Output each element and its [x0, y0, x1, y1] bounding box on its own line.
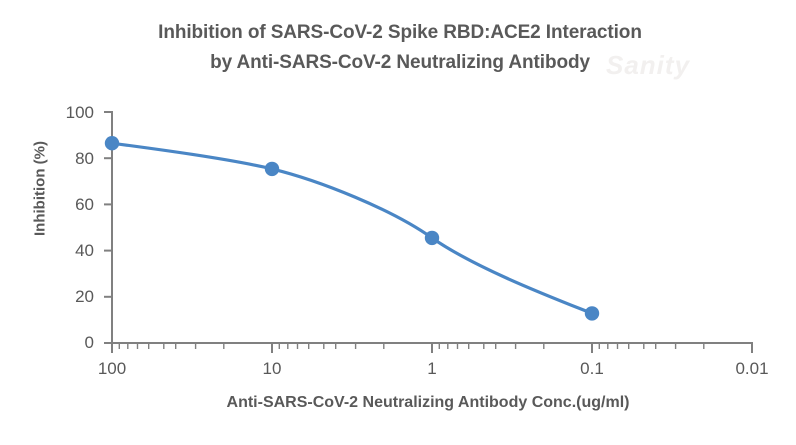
x-axis-title: Anti-SARS-CoV-2 Neutralizing Antibody Co… [98, 394, 758, 412]
data-point-100[interactable] [105, 136, 119, 150]
y-axis-title: Inhibition (%) [32, 89, 49, 289]
y-tick-label-100: 100 [48, 104, 94, 121]
y-tick-label-60: 60 [48, 196, 94, 213]
y-tick-label-20: 20 [48, 288, 94, 305]
y-tick-label-40: 40 [48, 242, 94, 259]
data-point-0.1[interactable] [585, 306, 599, 320]
data-point-10[interactable] [265, 162, 279, 176]
x-tick-label-0.01: 0.01 [712, 360, 792, 377]
x-tick-label-0.1: 0.1 [552, 360, 632, 377]
series-markers [105, 136, 599, 321]
chart-page: Inhibition of SARS-CoV-2 Spike RBD:ACE2 … [0, 0, 796, 445]
plot-svg [0, 0, 796, 445]
y-tick-label-0: 0 [48, 334, 94, 351]
plot-area: 0 20 40 60 80 100 100 10 1 0.1 0.01 Inhi… [0, 0, 796, 445]
x-tick-label-100: 100 [72, 360, 152, 377]
x-tick-label-1: 1 [392, 360, 472, 377]
data-point-1[interactable] [425, 231, 439, 245]
y-tick-label-80: 80 [48, 150, 94, 167]
x-tick-label-10: 10 [232, 360, 312, 377]
series-line-inhibition [112, 143, 592, 313]
